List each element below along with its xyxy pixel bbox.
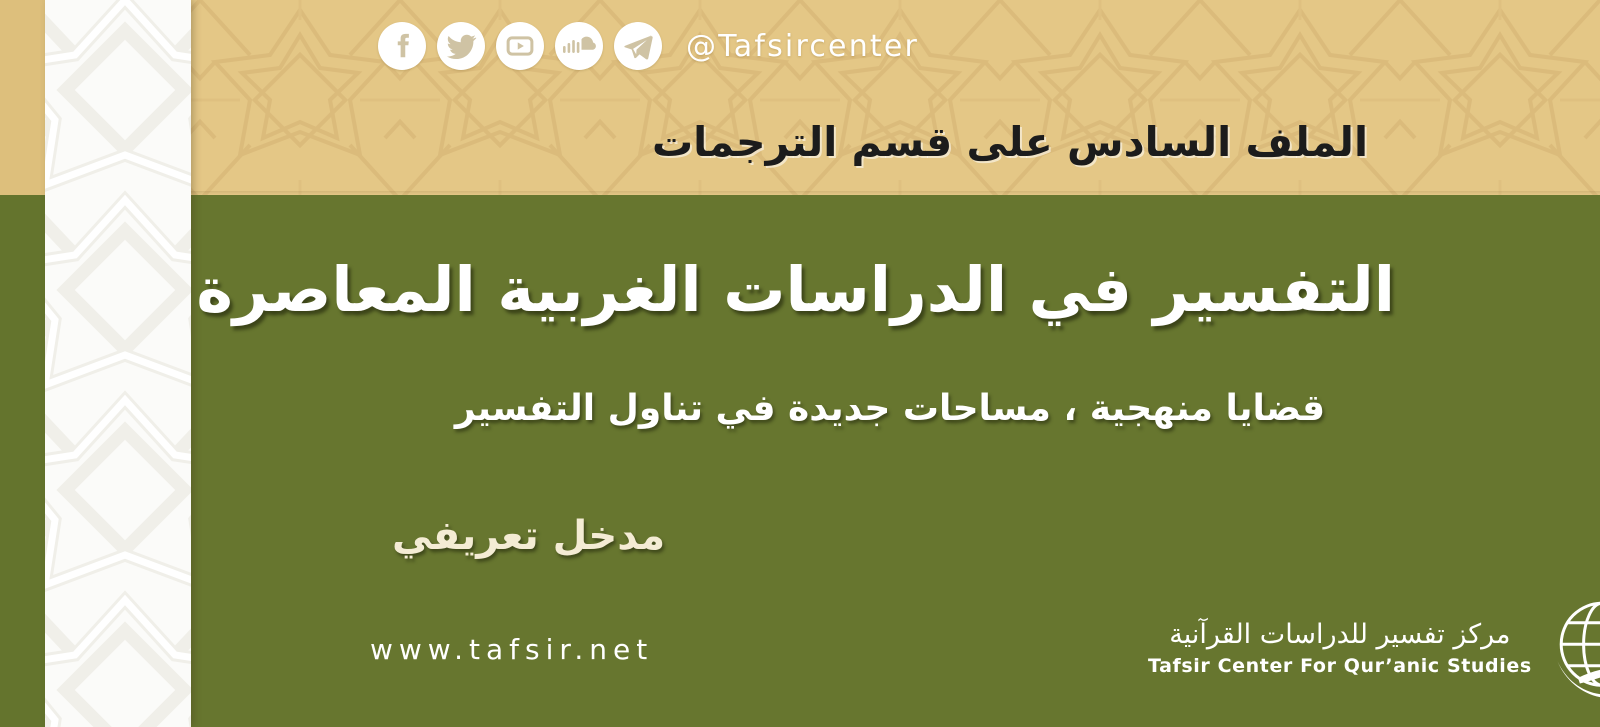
tafsir-center-logo[interactable]: مركز تفسير للدراسات القرآنية Tafsir Cent… — [1148, 592, 1600, 704]
facebook-glyph — [387, 31, 417, 61]
twitter-icon[interactable] — [437, 22, 485, 70]
telegram-glyph — [623, 31, 654, 62]
islamic-pattern-ornament — [45, 0, 191, 727]
globe-icon — [1550, 592, 1600, 704]
logo-wordmark: مركز تفسير للدراسات القرآنية Tafsir Cent… — [1148, 619, 1532, 676]
left-edge-strip-green — [0, 195, 45, 727]
telegram-icon[interactable] — [614, 22, 662, 70]
tertiary-title: مدخل تعريفي — [392, 513, 665, 559]
website-url[interactable]: www.tafsir.net — [370, 633, 653, 666]
youtube-glyph — [505, 31, 535, 61]
header-headline: الملف السادس على قسم الترجمات — [652, 118, 1368, 166]
soundcloud-icon[interactable] — [555, 22, 603, 70]
left-edge-strip-tan — [0, 0, 45, 195]
social-handle-text: @Tafsircenter — [686, 29, 919, 64]
social-links-row: @Tafsircenter — [378, 22, 919, 70]
facebook-icon[interactable] — [378, 22, 426, 70]
logo-arabic-name: مركز تفسير للدراسات القرآنية — [1169, 619, 1510, 650]
logo-english-name: Tafsir Center For Qur’anic Studies — [1148, 655, 1532, 677]
main-title: التفسير في الدراسات الغربية المعاصرة — [385, 253, 1395, 326]
sub-title: قضايا منهجية ، مساحات جديدة في تناول الت… — [385, 388, 1395, 429]
soundcloud-glyph — [562, 33, 596, 59]
youtube-icon[interactable] — [496, 22, 544, 70]
left-ornament-panel — [45, 0, 191, 727]
twitter-glyph — [446, 31, 477, 62]
promo-banner: @Tafsircenter الملف السادس على قسم الترج… — [0, 0, 1600, 727]
left-edge-strip — [0, 0, 45, 727]
